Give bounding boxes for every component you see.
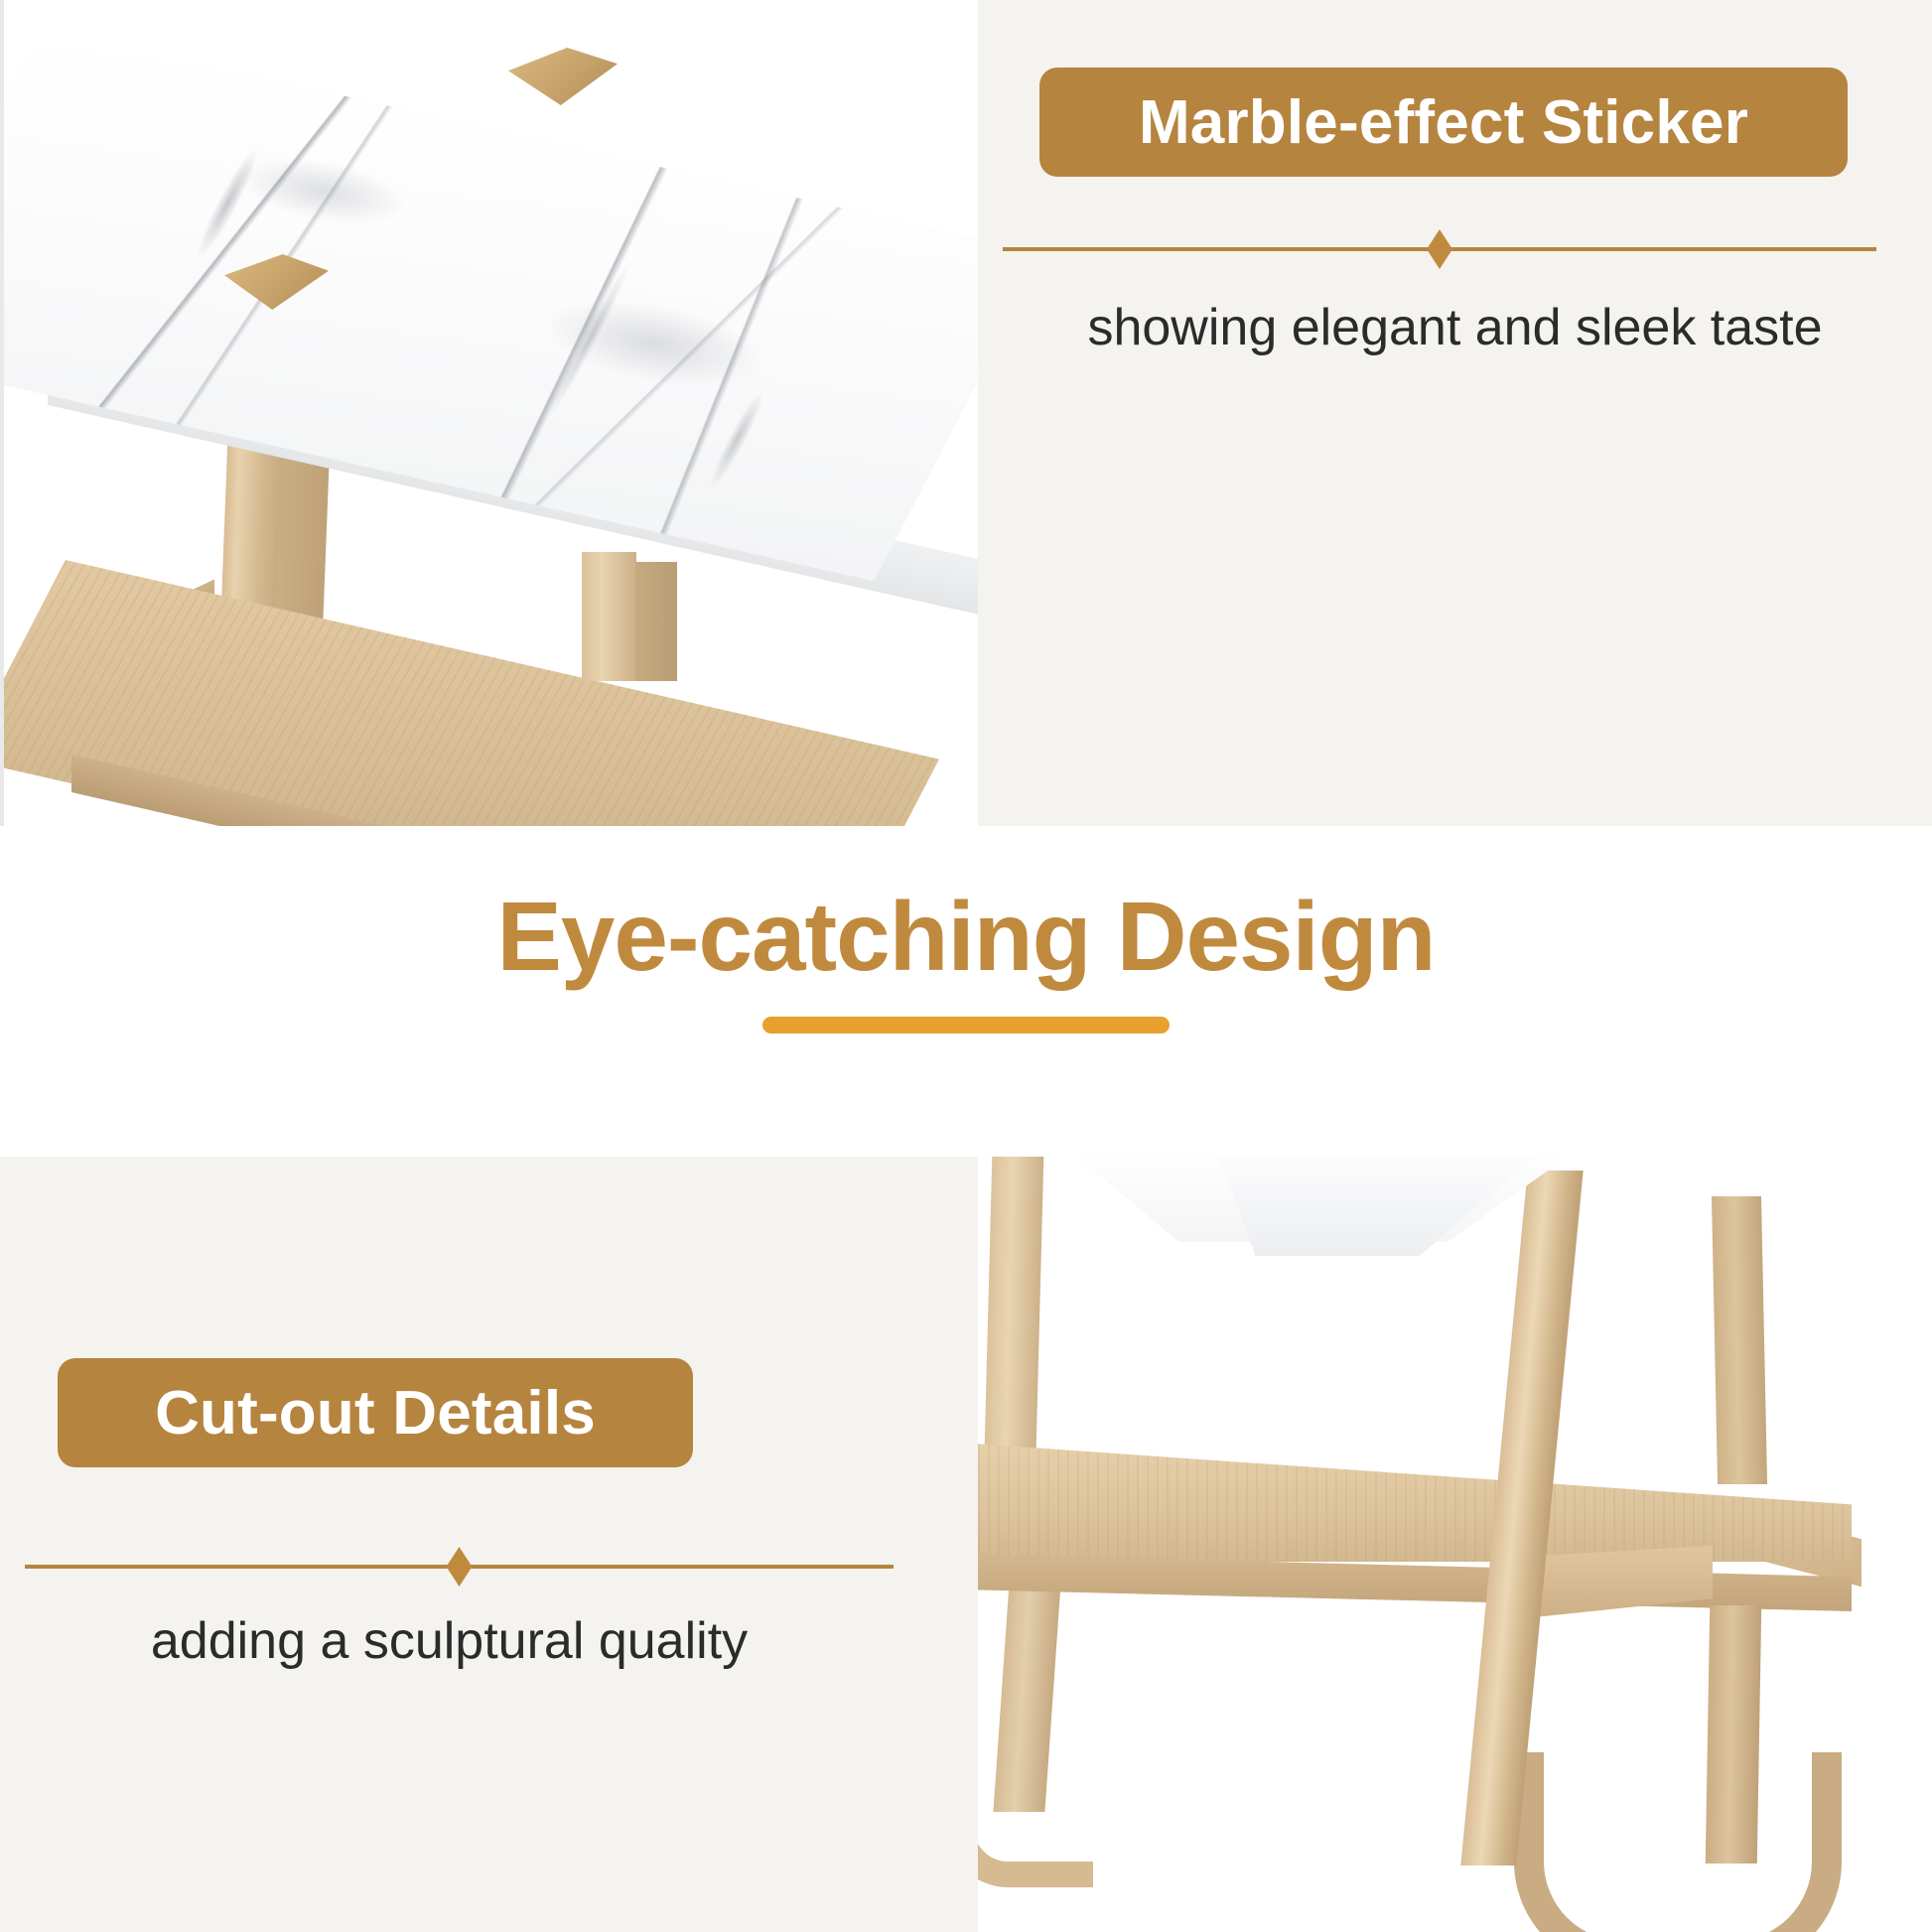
headline-section: Eye-catching Design [0, 826, 1932, 1157]
console-table-illustration [4, 0, 978, 826]
back-leg-cutout-foot [978, 1742, 1093, 1887]
diamond-icon [447, 1547, 473, 1587]
page-title: Eye-catching Design [0, 881, 1932, 993]
product-photo-cutout-leg [978, 1157, 1932, 1932]
table-leg-right-front [582, 552, 636, 681]
product-feature-infographic: Marble-effect Sticker showing elegant an… [0, 0, 1932, 1932]
product-photo-marble-top [0, 0, 978, 826]
feature-text-marble: Marble-effect Sticker showing elegant an… [978, 0, 1932, 826]
gold-corner-cap-right-icon [508, 48, 618, 105]
diamond-icon [1427, 229, 1452, 269]
shelf-front-edge [978, 1554, 1852, 1611]
feature-section-cutout: Cut-out Details adding a sculptural qual… [0, 1157, 1932, 1932]
feature-badge-marble: Marble-effect Sticker [1039, 68, 1848, 177]
feature-divider-cutout [25, 1552, 894, 1582]
title-underline-bar [762, 1017, 1170, 1034]
feature-section-marble: Marble-effect Sticker showing elegant an… [0, 0, 1932, 826]
back-leg-upper [984, 1157, 1044, 1484]
cutout-leg-illustration [978, 1157, 1932, 1932]
feature-badge-cutout: Cut-out Details [58, 1358, 693, 1467]
feature-subtitle-marble: showing elegant and sleek taste [978, 298, 1932, 357]
u-shaped-cutout-shading [1514, 1752, 1842, 1932]
feature-subtitle-cutout: adding a sculptural quality [0, 1611, 898, 1671]
table-leg-right-side [635, 562, 677, 681]
feature-text-cutout: Cut-out Details adding a sculptural qual… [0, 1157, 978, 1932]
front-leg-inner-upper [1712, 1196, 1767, 1484]
feature-divider-marble [1003, 234, 1876, 264]
